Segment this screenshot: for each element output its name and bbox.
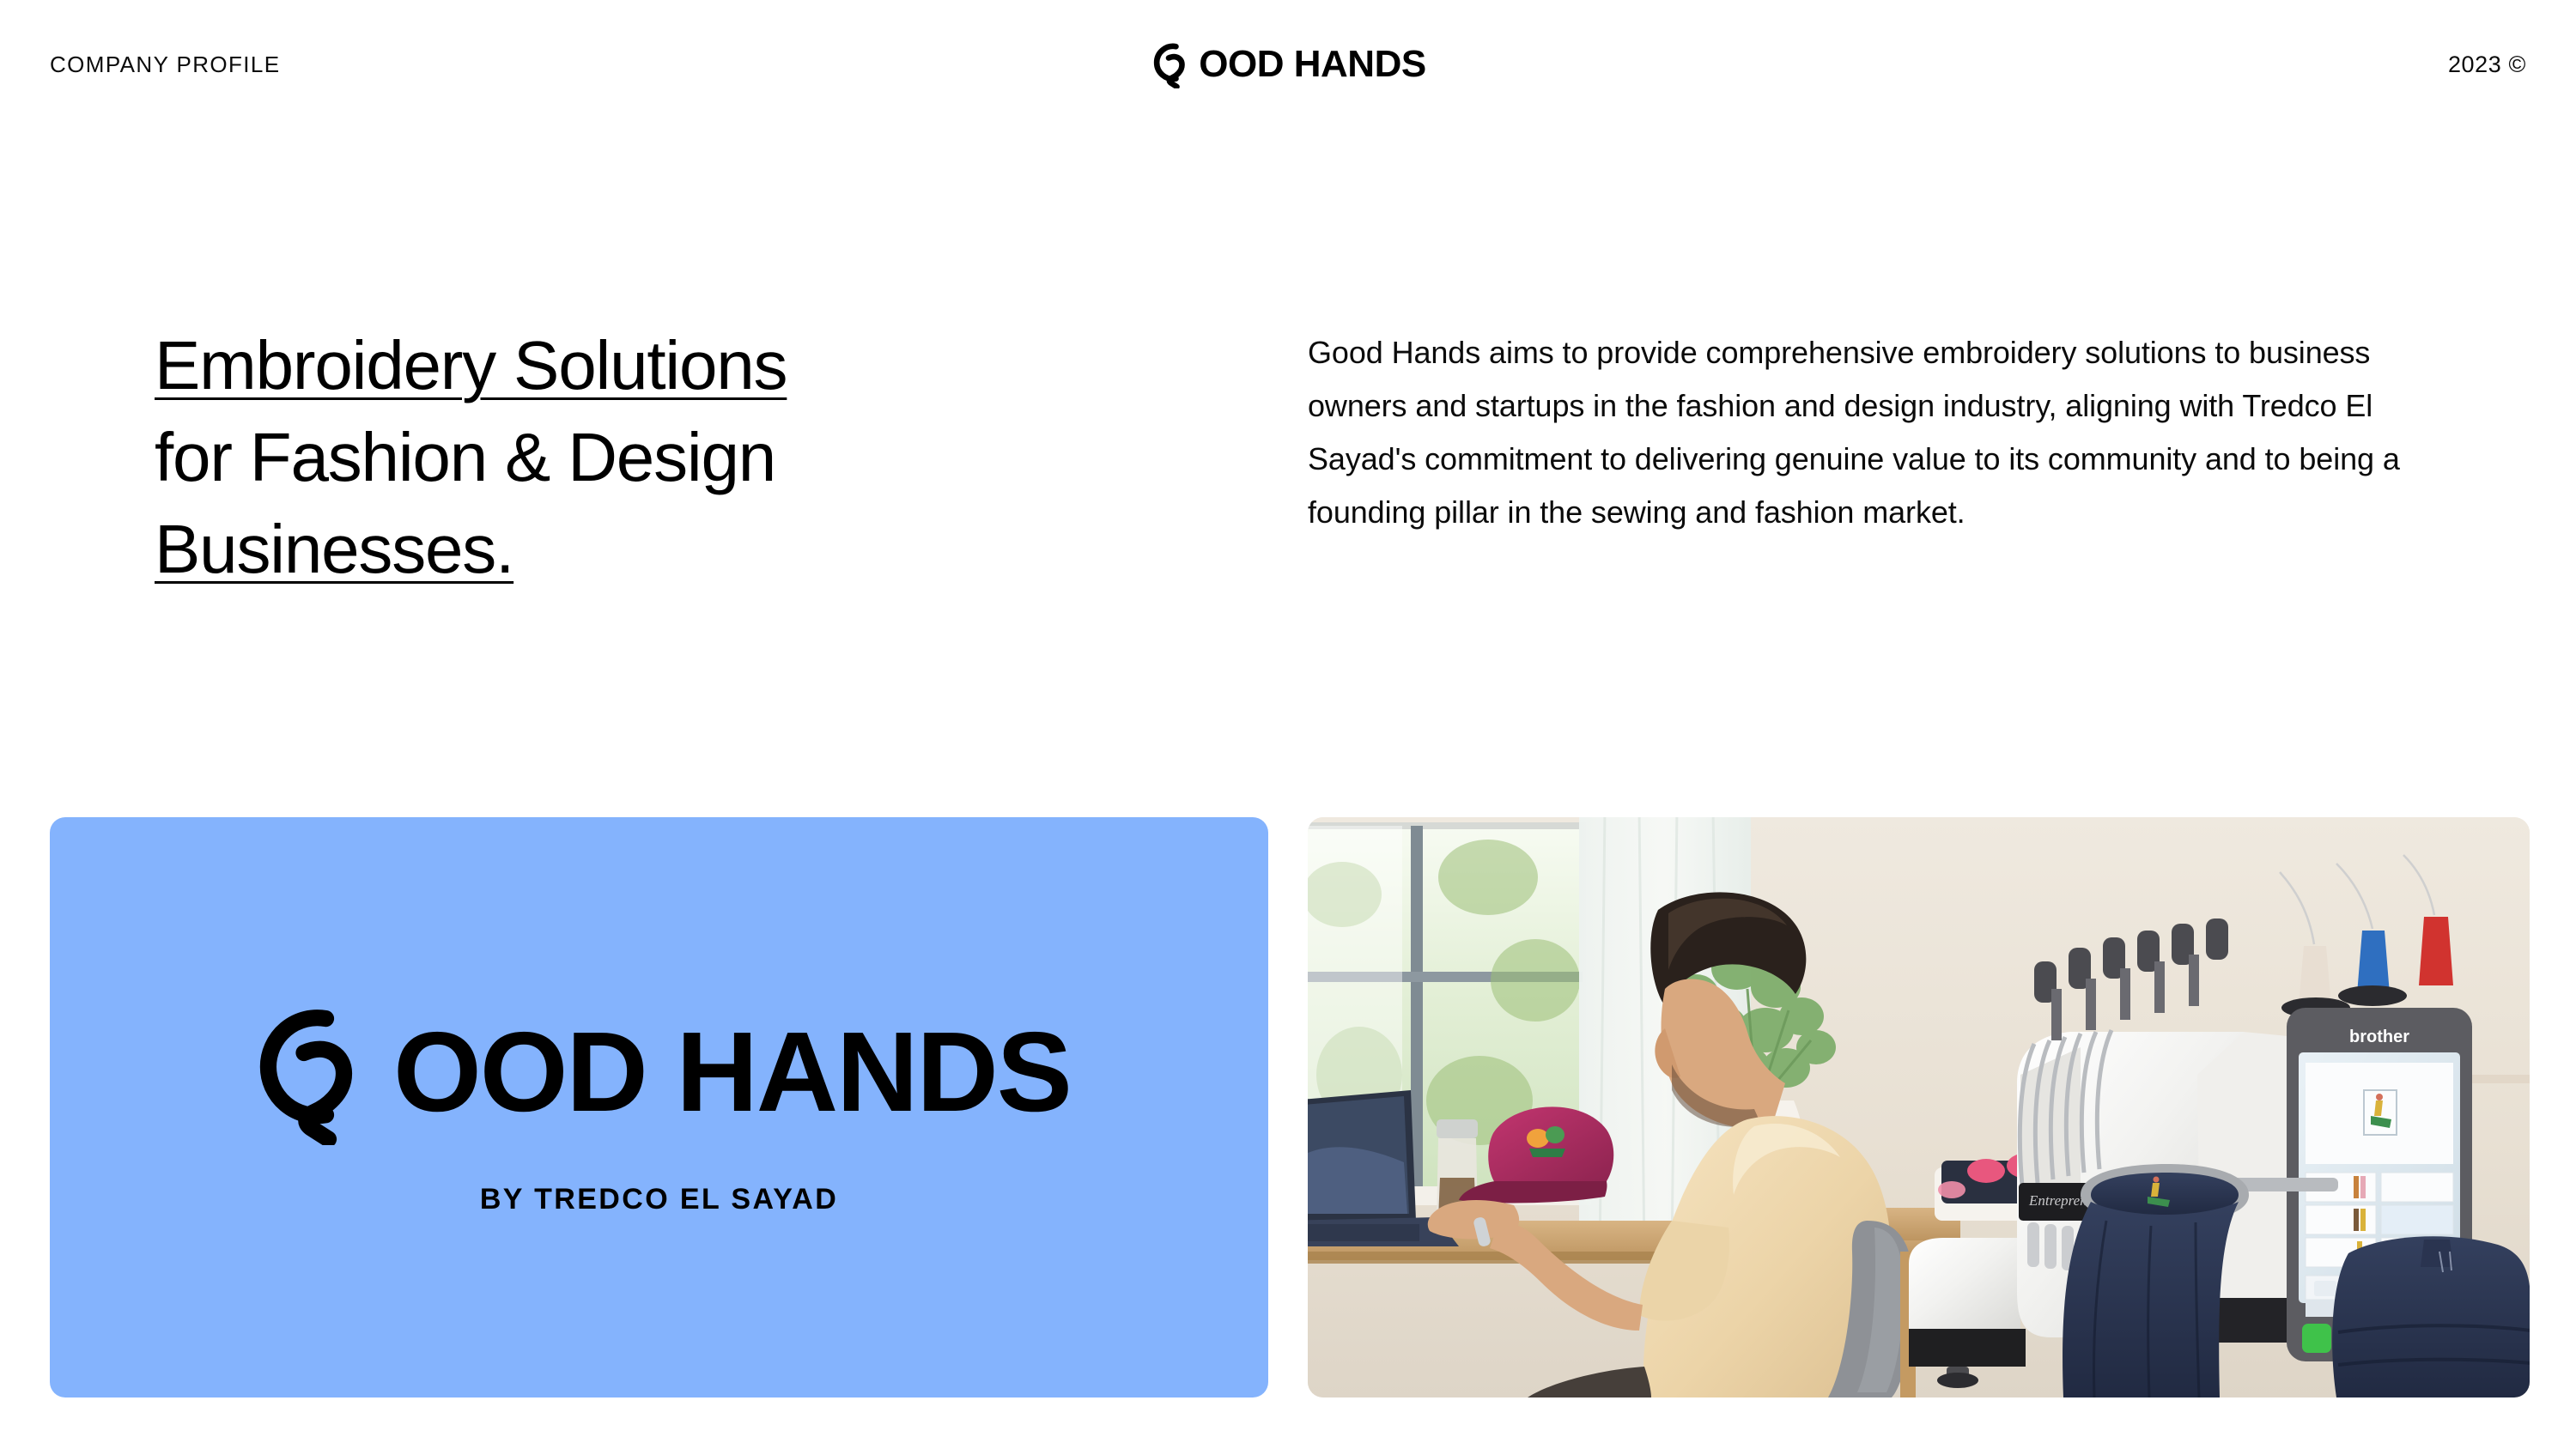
page-header: COMPANY PROFILE OOD HANDS 2023 ©	[0, 0, 2576, 129]
brand-logo-header: OOD HANDS	[1150, 40, 1425, 88]
folded-navy-shirt	[2332, 1236, 2530, 1397]
copyright-year: 2023 ©	[2448, 52, 2526, 77]
hero-headline: Embroidery Solutions for Fashion & Desig…	[155, 319, 1151, 596]
header-left: COMPANY PROFILE	[50, 52, 599, 78]
brand-logo-card: OOD HANDS BY TREDCO EL SAYAD	[50, 817, 1268, 1397]
header-center: OOD HANDS	[599, 40, 1977, 88]
workspace-photo: Entrepreneur W brother	[1308, 817, 2530, 1397]
brand-subtitle: BY TREDCO EL SAYAD	[480, 1183, 838, 1216]
brand-wordmark-large: OOD HANDS	[393, 1016, 1071, 1129]
hero-body-paragraph: Good Hands aims to provide comprehensive…	[1308, 326, 2424, 539]
workspace-photo-card: Entrepreneur W brother	[1308, 817, 2530, 1397]
header-right: 2023 ©	[1977, 52, 2526, 78]
good-hands-g-icon	[247, 999, 381, 1145]
brother-brand-text: brother	[2349, 1028, 2409, 1046]
brand-wordmark-header: OOD HANDS	[1199, 45, 1425, 83]
headline-line-3: Businesses.	[155, 503, 1151, 595]
company-profile-slide: COMPANY PROFILE OOD HANDS 2023 © Embroid…	[0, 0, 2576, 1449]
page-kicker: COMPANY PROFILE	[50, 52, 281, 77]
headline-line-2: for Fashion & Design	[155, 411, 1151, 503]
brand-logo-large: OOD HANDS	[247, 999, 1071, 1145]
good-hands-g-icon	[1150, 40, 1194, 88]
headline-line-1: Embroidery Solutions	[155, 319, 1151, 411]
